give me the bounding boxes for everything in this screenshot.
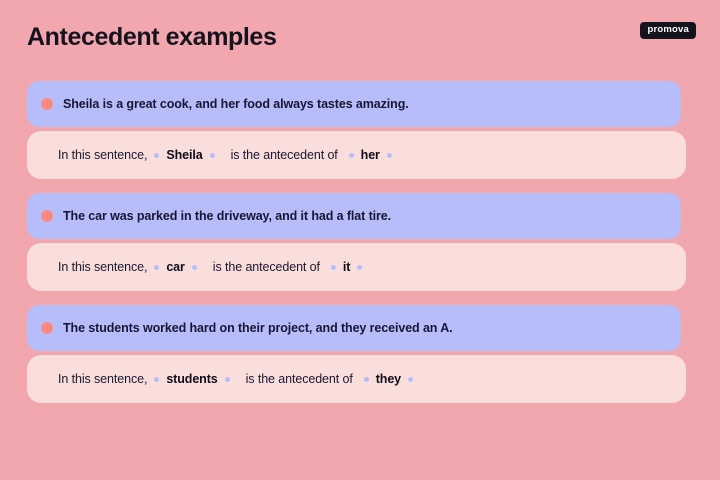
explanation-prefix: In this sentence,: [58, 148, 147, 162]
explanation-line: In this sentence, Sheila is the antecede…: [58, 148, 399, 162]
explanation-card: In this sentence, students is the antece…: [27, 355, 686, 403]
explanation-card: In this sentence, car is the antecedent …: [27, 243, 686, 291]
example-groups: Sheila is a great cook, and her food alw…: [0, 81, 720, 403]
explanation-line: In this sentence, car is the antecedent …: [58, 260, 369, 274]
antecedent-word: Sheila: [166, 148, 202, 162]
mini-dot-icon: [349, 153, 354, 158]
mini-dot-icon: [225, 377, 230, 382]
mini-dot-icon: [331, 265, 336, 270]
bullet-dot-icon: [41, 210, 53, 222]
explanation-prefix: In this sentence,: [58, 372, 147, 386]
pronoun-word: it: [343, 260, 350, 274]
mini-dot-icon: [408, 377, 413, 382]
bullet-dot-icon: [41, 98, 53, 110]
mini-dot-icon: [154, 265, 159, 270]
example-sentence: The students worked hard on their projec…: [63, 321, 453, 335]
explanation-middle: is the antecedent of: [231, 148, 338, 162]
example-group: The students worked hard on their projec…: [0, 305, 720, 403]
explanation-card: In this sentence, Sheila is the antecede…: [27, 131, 686, 179]
antecedent-word: students: [166, 372, 217, 386]
explanation-prefix: In this sentence,: [58, 260, 147, 274]
example-sentence: Sheila is a great cook, and her food alw…: [63, 97, 409, 111]
promova-logo: promova: [640, 22, 696, 39]
example-card: The car was parked in the driveway, and …: [27, 193, 681, 239]
mini-dot-icon: [210, 153, 215, 158]
mini-dot-icon: [192, 265, 197, 270]
mini-dot-icon: [364, 377, 369, 382]
mini-dot-icon: [357, 265, 362, 270]
page-title: Antecedent examples: [27, 23, 276, 52]
explanation-line: In this sentence, students is the antece…: [58, 372, 420, 386]
example-group: The car was parked in the driveway, and …: [0, 193, 720, 291]
bullet-dot-icon: [41, 322, 53, 334]
example-card: Sheila is a great cook, and her food alw…: [27, 81, 681, 127]
example-sentence: The car was parked in the driveway, and …: [63, 209, 391, 223]
antecedent-word: car: [166, 260, 184, 274]
example-card: The students worked hard on their projec…: [27, 305, 681, 351]
example-group: Sheila is a great cook, and her food alw…: [0, 81, 720, 179]
pronoun-word: her: [361, 148, 380, 162]
mini-dot-icon: [154, 377, 159, 382]
mini-dot-icon: [154, 153, 159, 158]
slide-canvas: Antecedent examples promova Sheila is a …: [0, 0, 720, 480]
explanation-middle: is the antecedent of: [246, 372, 353, 386]
mini-dot-icon: [387, 153, 392, 158]
explanation-middle: is the antecedent of: [213, 260, 320, 274]
pronoun-word: they: [376, 372, 401, 386]
